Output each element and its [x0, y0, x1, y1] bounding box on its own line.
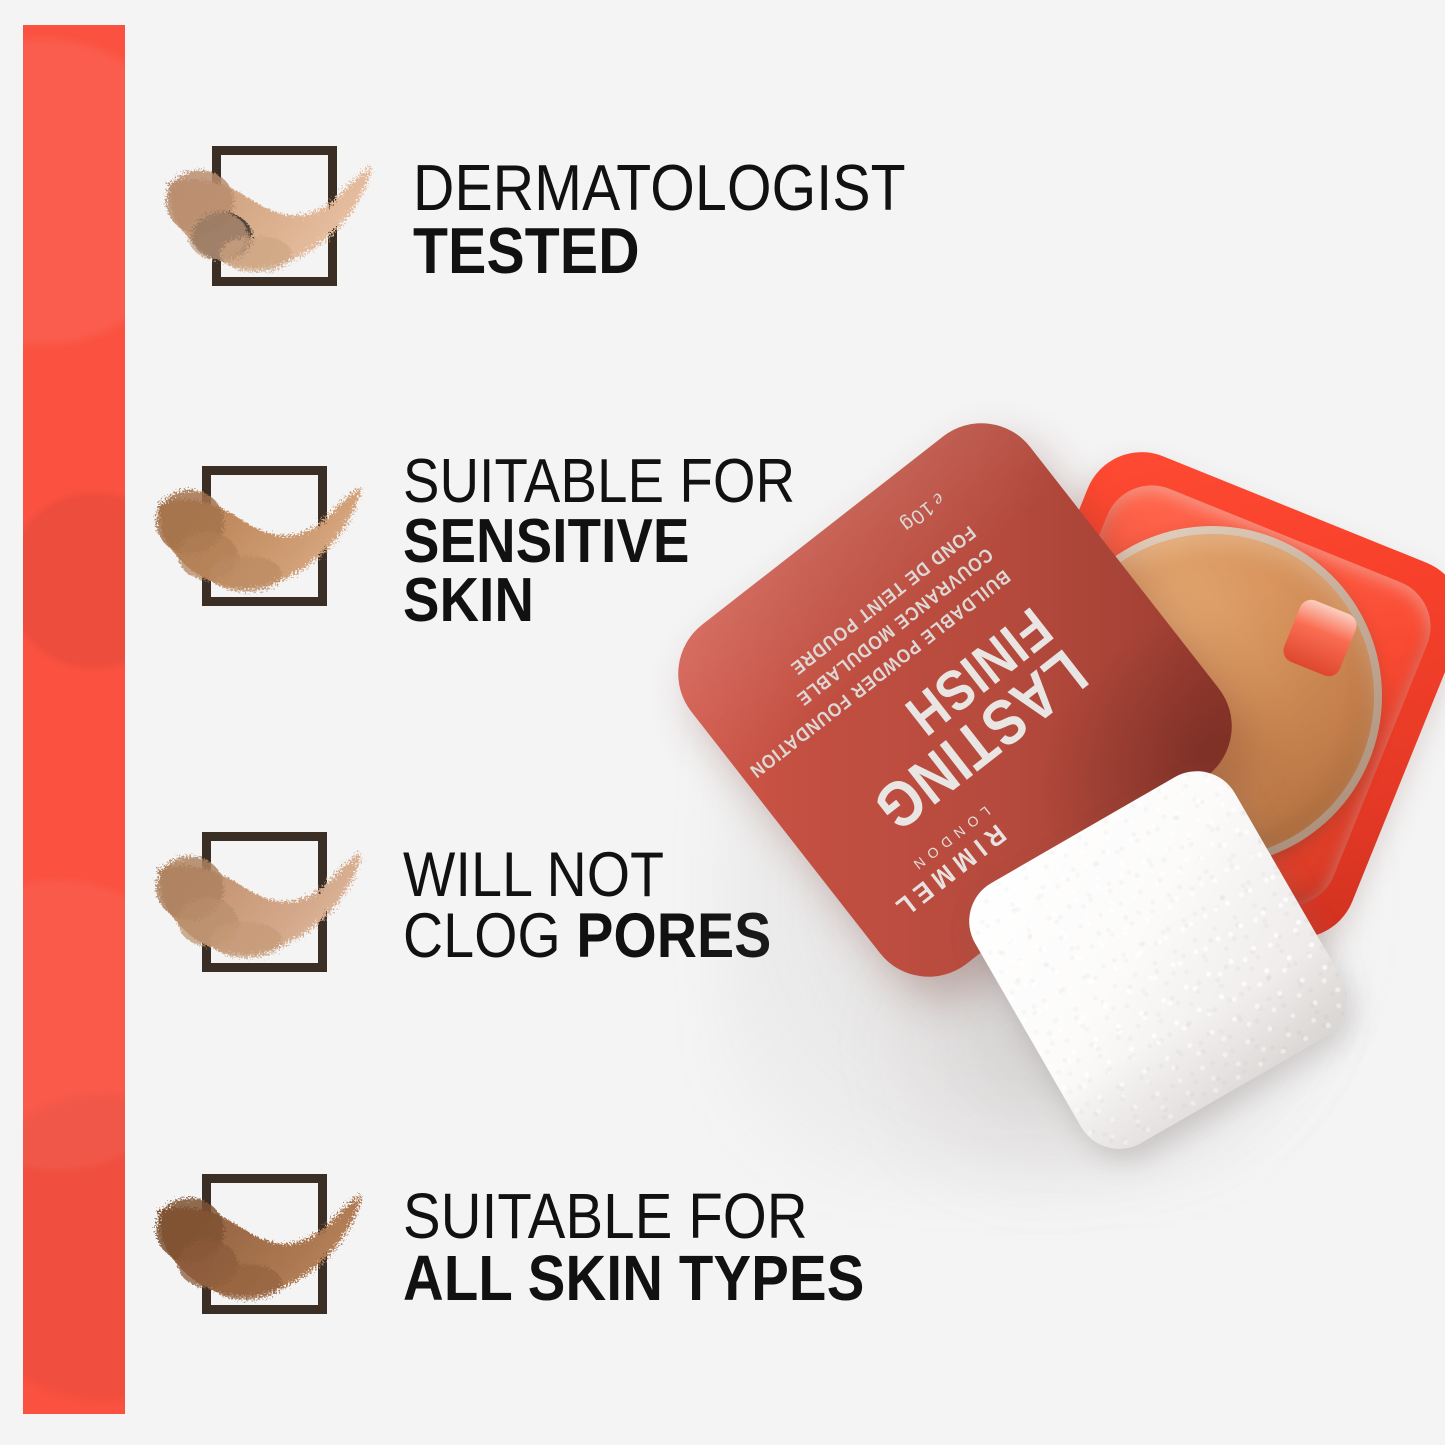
- powder-swatch-4: [150, 1160, 365, 1335]
- net-weight: e10g: [895, 487, 949, 536]
- claim-text-1: DERMATOLOGIST TESTED: [413, 157, 973, 282]
- claim-1-line-1: DERMATOLOGIST: [413, 157, 906, 219]
- powder-swatch-1: [160, 132, 375, 307]
- net-weight-value: 10g: [896, 497, 938, 537]
- claim-row-dermatologist-tested: DERMATOLOGIST TESTED: [160, 132, 973, 307]
- checkbox-square-icon-3: [202, 832, 327, 972]
- checkbox-square-icon-4: [202, 1174, 327, 1314]
- powder-swatch-2: [150, 452, 365, 627]
- claim-1-line-2: TESTED: [413, 220, 906, 282]
- left-red-stripe: [23, 25, 125, 1414]
- claim-3-line-2-regular: CLOG: [403, 901, 576, 971]
- checkbox-square-icon-2: [202, 466, 327, 606]
- checkbox-square-icon-1: [212, 146, 337, 286]
- marketing-image-canvas: DERMATOLOGIST TESTED: [0, 0, 1445, 1445]
- product-photo: RIMMEL LONDON LASTING FINISH BUILDABLE P…: [690, 430, 1445, 1220]
- claim-4-line-2: ALL SKIN TYPES: [403, 1248, 864, 1309]
- powder-swatch-3: [150, 818, 365, 993]
